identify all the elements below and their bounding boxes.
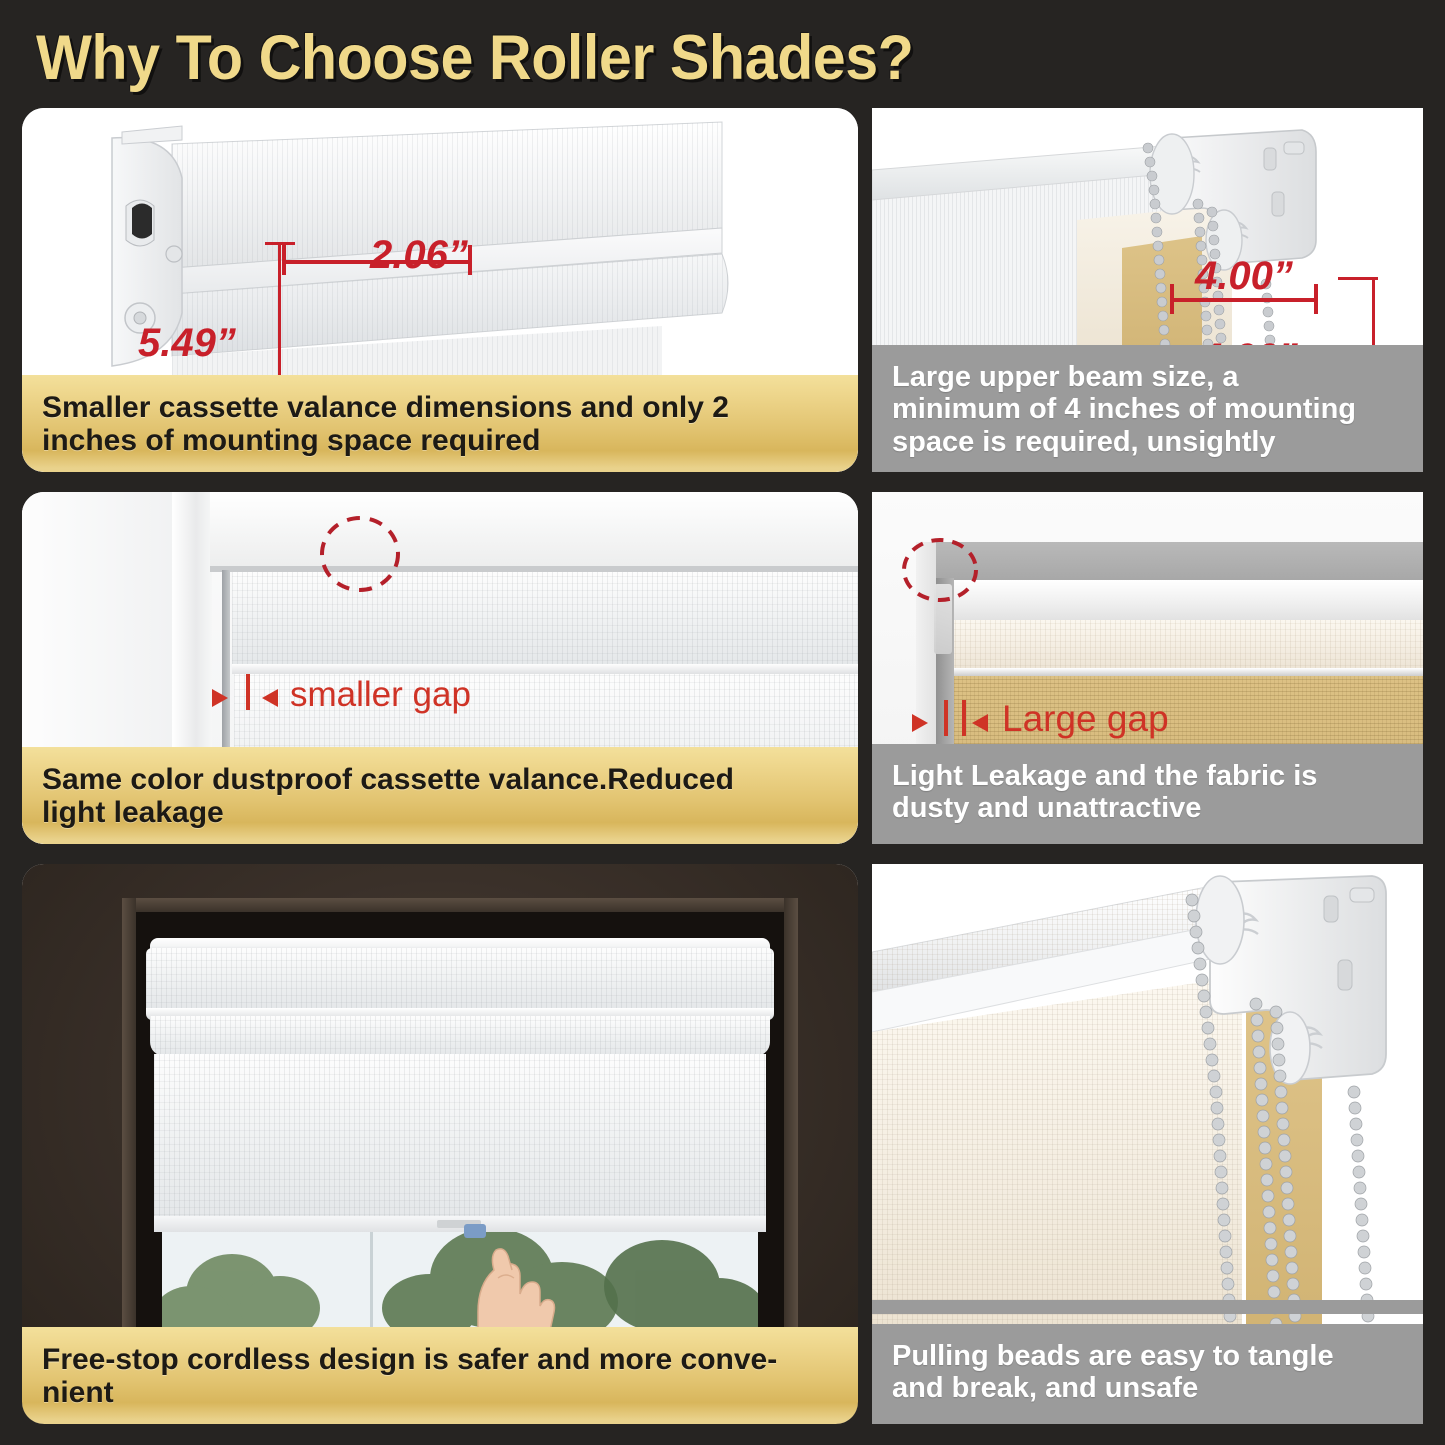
panel-bad-bead-chains: Pulling beads are easy to tangle and bre… bbox=[872, 864, 1423, 1424]
bad-width-tick-left bbox=[1170, 284, 1174, 314]
caption-line: dusty and unattractive bbox=[892, 792, 1405, 824]
bad-width-tick-right bbox=[1314, 284, 1318, 314]
panel-bad-large-beam: 4.00” 4.00” Large upper beam size, a min… bbox=[872, 108, 1423, 472]
caption-bad-row1: Large upper beam size, a minimum of 4 in… bbox=[872, 345, 1423, 472]
width-dimension-tick-right bbox=[468, 245, 472, 275]
large-gap-arrow-left bbox=[912, 714, 928, 732]
large-gap-arrow-right bbox=[972, 714, 988, 732]
caption-line: space is required, unsightly bbox=[892, 426, 1405, 458]
caption-line: light leakage bbox=[42, 796, 840, 830]
infographic-page: Why To Choose Roller Shades? bbox=[0, 0, 1445, 1445]
caption-line: Large upper beam size, a bbox=[892, 361, 1405, 393]
bad-width-dimension-label: 4.00” bbox=[1195, 254, 1293, 299]
caption-line: Pulling beads are easy to tangle bbox=[892, 1340, 1405, 1372]
caption-bad-row2: Light Leakage and the fabric is dusty an… bbox=[872, 744, 1423, 844]
caption-line: nient bbox=[42, 1376, 840, 1410]
caption-good-row3: Free-stop cordless design is safer and m… bbox=[22, 1327, 858, 1424]
caption-line: Light Leakage and the fabric is bbox=[892, 760, 1405, 792]
page-title: Why To Choose Roller Shades? bbox=[36, 22, 1333, 94]
panel-good-cassette-dimensions: 2.06” 5.49” Smaller cassette valance dim… bbox=[22, 108, 858, 472]
bad-height-tick-top bbox=[1338, 277, 1378, 280]
gap-arrow-left bbox=[212, 689, 228, 707]
caption-good-row2: Same color dustproof cassette valance.Re… bbox=[22, 747, 858, 844]
large-gap-tick-right bbox=[962, 700, 966, 736]
large-gap-callout-label: Large gap bbox=[1002, 698, 1169, 740]
height-dimension-label: 5.49” bbox=[138, 321, 236, 366]
gap-arrow-right bbox=[262, 689, 278, 707]
caption-line: Free-stop cordless design is safer and m… bbox=[42, 1343, 840, 1377]
caption-line: minimum of 4 inches of mounting bbox=[892, 393, 1405, 425]
width-dimension-tick-left bbox=[282, 245, 286, 275]
width-dimension-label: 2.06” bbox=[370, 233, 468, 278]
panel-bad-large-gap: Large gap Light Leakage and the fabric i… bbox=[872, 492, 1423, 844]
large-gap-tick-left bbox=[944, 700, 948, 736]
caption-line: inches of mounting space required bbox=[42, 424, 840, 458]
panel-good-cordless-window: Free-stop cordless design is safer and m… bbox=[22, 864, 858, 1424]
height-dimension-tick-top bbox=[265, 242, 295, 245]
caption-good-row1: Smaller cassette valance dimensions and … bbox=[22, 375, 858, 472]
caption-bad-row3: Pulling beads are easy to tangle and bre… bbox=[872, 1324, 1423, 1424]
caption-line: Same color dustproof cassette valance.Re… bbox=[42, 763, 840, 797]
gap-callout-label: smaller gap bbox=[290, 675, 471, 715]
caption-line: Smaller cassette valance dimensions and … bbox=[42, 391, 840, 425]
caption-line: and break, and unsafe bbox=[892, 1372, 1405, 1404]
panel-good-smaller-gap: smaller gap Same color dustproof cassett… bbox=[22, 492, 858, 844]
gap-tick bbox=[246, 674, 250, 710]
roller-bracket-illustration bbox=[872, 108, 1423, 376]
